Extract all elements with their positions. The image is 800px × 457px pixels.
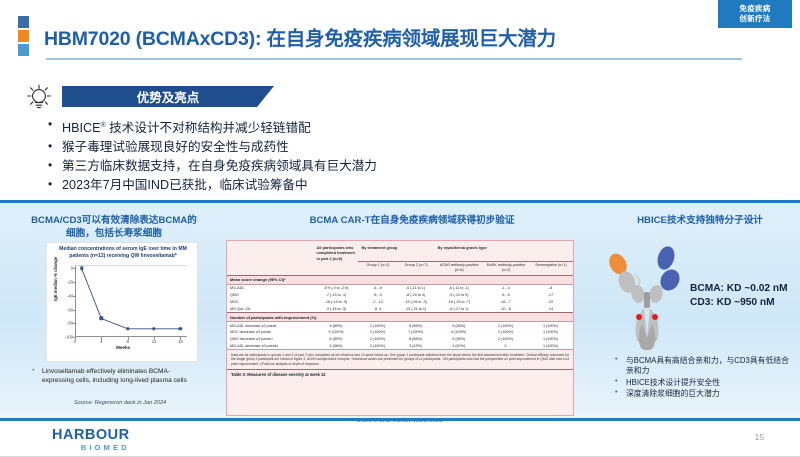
table-cell: -5, -3 [358, 292, 396, 299]
table-caption: Table 3: Measures of disease severity at… [227, 369, 573, 380]
chart-y-tick-label: -20 [67, 280, 73, 285]
table-cell: -17 [528, 292, 573, 299]
table-row-label: MG-QoL-15r [227, 305, 314, 312]
table-cell: -2, -13 [358, 298, 396, 305]
kd-cd3: CD3: KD ~950 nM [690, 296, 796, 310]
disease-severity-table-card: All participants who completed treatment… [226, 240, 574, 416]
table-section-row: Number of participants with improvement … [227, 313, 573, 322]
left-panel-bullet: Linvoseltamab effectively eliminates BCM… [32, 368, 200, 386]
table-row: MG-ADL decrease ≥5 points‡5 (56%)2 (100%… [227, 343, 573, 350]
table-row: MGC decrease ≥3 points9 (100%)2 (100%)7 … [227, 329, 573, 336]
antibody-hinge [644, 292, 650, 308]
chart-x-tick-label: 4 [100, 339, 102, 344]
table-cell: 1 (100%) [528, 329, 573, 336]
table-section-row: Mean score change (95% CI)* [227, 275, 573, 284]
table-cell: 2 (100%) [483, 329, 528, 336]
igE-chart-card: Median concentrations of serum IgE over … [46, 242, 198, 362]
table-cell: -13 (-21 to 1) [397, 305, 435, 312]
chart-title: Median concentrations of serum IgE over … [51, 246, 195, 260]
table-row-label: QMG decrease ≥3 points† [227, 336, 314, 343]
chart-y-tick-label: 0 [71, 266, 73, 271]
col-group-all-participants: All participants who completed treatment… [314, 241, 359, 261]
table-cell: -16 (-23 to -7) [435, 298, 483, 305]
table-cell: 9 (100%) [314, 329, 359, 336]
accent-square-orange [18, 30, 29, 42]
table-cell: -5 (-10 to 0) [435, 292, 483, 299]
table-cell: 3 (43%) [397, 343, 435, 350]
chart-x-tick-label: 16 [178, 339, 183, 344]
harbour-biomed-logo: HARBOUR BIOMED [52, 428, 130, 452]
table-cell: 5 (83%) [435, 336, 483, 343]
title-divider [46, 58, 742, 60]
table-row: QMG decrease ≥3 points†8 (89%)2 (100%)6 … [227, 336, 573, 343]
chart-plot-area: 0-20-40-60-80-1000481216 [75, 265, 187, 337]
subhead-seronegative: Seronegative (n=1) [528, 261, 573, 275]
table-cell: -1, -4 [483, 284, 528, 291]
highlight-text-cont: 技术设计不对称结构并减少轻链错配 [106, 121, 311, 135]
mutation-dot-left [636, 314, 642, 320]
highlights-ribbon-label: 优势及亮点 [137, 87, 200, 106]
logo-secondary: BIOMED [52, 443, 130, 452]
chart-x-axis-label: Weeks [47, 345, 199, 350]
footer-divider [0, 418, 800, 421]
right-bullet-1: 与BCMA具有高结合亲和力，与CD3具有低结合亲和力 [612, 356, 792, 377]
chart-x-tick-label: 8 [127, 339, 129, 344]
table-row-label: QMG [227, 292, 314, 299]
table-row: MG-QoL-15r-9 (-15 to -3)-8, 4-13 (-21 to… [227, 305, 573, 312]
table-cell: -10, -6 [483, 305, 528, 312]
page-title: HBM7020 (BCMAxCD3): 在自身免疫疾病领域展现巨大潜力 [44, 22, 556, 51]
table-cell: -8 (-20 to 4) [397, 292, 435, 299]
table-cell: 8 (89%) [314, 322, 359, 329]
highlights-ribbon: 优势及亮点 [62, 86, 274, 107]
highlight-text: 2023年7月中国IND已获批，临床试验筹备中 [62, 178, 308, 192]
left-panel-source: Source: Regeneron deck in Jan 2024 [40, 400, 200, 406]
table-cell: 8 (89%) [314, 336, 359, 343]
table-cell: -5·9 (-9 to -2·8) [314, 284, 359, 291]
highlight-item-4: 2023年7月中国IND已获批，临床试验筹备中 [44, 176, 770, 195]
subhead-group1: Group 1 (n=2) [358, 261, 396, 275]
table-cell: 5 (56%) [314, 343, 359, 350]
disease-severity-table: All participants who completed treatment… [227, 241, 573, 349]
table-cell: 0 [483, 343, 528, 350]
kd-values: BCMA: KD ~0.02 nM CD3: KD ~950 nM [690, 282, 796, 310]
kd-bcma: BCMA: KD ~0.02 nM [690, 282, 796, 296]
table-cell: -22 [528, 298, 573, 305]
table-cell: 2 (100%) [358, 343, 396, 350]
table-section-title: Mean score change (95% CI)* [227, 275, 573, 284]
left-heading-line: 细胞，包括长寿浆细胞 [66, 228, 162, 239]
accent-square-blue-light [18, 44, 29, 56]
right-panel-heading: HBICE技术支持独特分子设计 [606, 214, 794, 227]
table-row-label: MGC [227, 298, 314, 305]
table-subheader-row: Group 1 (n=2) Group 2 (n=7) AChR antibod… [227, 261, 573, 275]
table-row-label: MG-ADL decrease ≥5 points‡ [227, 343, 314, 350]
table-cell: 6 (86%) [397, 322, 435, 329]
highlight-item-2: 猴子毒理试验展现良好的安全性与成药性 [44, 138, 770, 157]
table-row: MG-ADL decrease ≥2 points8 (89%)2 (100%)… [227, 322, 573, 329]
table-cell: 5 (83%) [435, 322, 483, 329]
table-cell: -7 (-13 to -1) [314, 292, 359, 299]
table-section-title: Number of participants with improvement … [227, 313, 573, 322]
subhead-blank-1 [227, 261, 314, 275]
table-cell: -8 [528, 284, 573, 291]
table-cell: -14 [528, 305, 573, 312]
table-row: MG-ADL-5·9 (-9 to -2·8)-6, -8-6 (-11 to … [227, 284, 573, 291]
table-cell: 2 (100%) [483, 336, 528, 343]
table-row-label: MGC decrease ≥3 points [227, 329, 314, 336]
table-row: MGC-16 (-19 to -9)-2, -13-15 (-29 to -3)… [227, 298, 573, 305]
mutation-dot-right [652, 314, 658, 320]
chart-series-line [75, 265, 187, 337]
table-cell: -5, -5 [483, 292, 528, 299]
table-cell: -6 (-11 to -1) [435, 284, 483, 291]
middle-panel-heading: BCMA CAR-T在自身免疫疾病领域获得初步验证 [226, 214, 598, 227]
table-cell: -8, 4 [358, 305, 396, 312]
table-cell: -16, -7 [483, 298, 528, 305]
table-cell: 2 (100%) [358, 322, 396, 329]
chart-y-tick-label: -100 [65, 335, 73, 340]
table-cell: -15 (-29 to -3) [397, 298, 435, 305]
subhead-group2: Group 2 (n=7) [397, 261, 435, 275]
table-cell: 1 (100%) [528, 343, 573, 350]
accent-squares [18, 16, 29, 58]
table-cell: -8 (-17 to 1) [435, 305, 483, 312]
left-panel-heading: BCMA/CD3可以有效清除表达BCMA的细胞，包括长寿浆细胞 [16, 214, 212, 240]
antibody-ch1-right [648, 284, 664, 304]
badge-line-1: 免疫疾病 [739, 4, 770, 14]
table-cell: -6, -8 [358, 284, 396, 291]
col-group-by-mg-type: By myasthenia gravis type [435, 241, 573, 261]
highlight-text: 第三方临床数据支持，在自身免疫疾病领域具有巨大潜力 [62, 159, 377, 173]
subhead-musk: MuSK antibody-positive (n=2) [483, 261, 528, 275]
table-cell: -16 (-19 to -9) [314, 298, 359, 305]
chart-x-tick-label: 0 [74, 339, 76, 344]
table-cell: -6 (-11 to 1) [397, 284, 435, 291]
highlight-text: HBICE [62, 121, 101, 135]
table-cell: 2 (100%) [483, 322, 528, 329]
table-cell: -9 (-15 to -3) [314, 305, 359, 312]
table-corner-cell [227, 241, 314, 261]
right-bullet-2: HBICE技术设计提升安全性 [612, 378, 792, 388]
highlights-list: HBICE® 技术设计不对称结构并减少轻链错配 猴子毒理试验展现良好的安全性与成… [44, 116, 770, 195]
chart-y-tick-label: -40 [67, 293, 73, 298]
table-cell: 2 (100%) [358, 336, 396, 343]
highlight-item-3: 第三方临床数据支持，在自身免疫疾病领域具有巨大潜力 [44, 157, 770, 176]
highlight-item-1: HBICE® 技术设计不对称结构并减少轻链错配 [44, 116, 770, 138]
subhead-blank-2 [314, 261, 359, 275]
highlight-text: 猴子毒理试验展现良好的安全性与成药性 [62, 140, 289, 154]
table-group-header-row: All participants who completed treatment… [227, 241, 573, 261]
table-footnote: Data are for participants in groups 1 an… [227, 349, 573, 368]
slide-header: HBM7020 (BCMAxCD3): 在自身免疫疾病领域展现巨大潜力 [18, 14, 782, 72]
table-row: QMG-7 (-13 to -1)-5, -3-8 (-20 to 4)-5 (… [227, 292, 573, 299]
table-cell: 4 (67%) [435, 343, 483, 350]
table-cell: 6 (100%) [435, 329, 483, 336]
chart-x-tick-label: 12 [152, 339, 157, 344]
table-row-label: MG-ADL [227, 284, 314, 291]
table-body: Mean score change (95% CI)*MG-ADL-5·9 (-… [227, 275, 573, 349]
left-heading-line: BCMA/CD3可以有效清除表达BCMA的 [31, 215, 197, 226]
table-cell: 7 (100%) [397, 329, 435, 336]
band-top-divider [0, 200, 800, 203]
lightbulb-icon [22, 83, 56, 113]
table-cell: 1 (100%) [528, 336, 573, 343]
hbice-antibody-diagram [604, 238, 700, 354]
page-number: 15 [754, 432, 764, 442]
subhead-achr: AChR antibody-positive (n=6) [435, 261, 483, 275]
chart-y-tick-label: -80 [67, 321, 73, 326]
table-head: All participants who completed treatment… [227, 241, 573, 275]
col-group-by-treatment: By treatment group [358, 241, 434, 261]
right-panel-bullets: 与BCMA具有高结合亲和力，与CD3具有低结合亲和力 HBICE技术设计提升安全… [612, 356, 792, 401]
table-cell: 6 (86%) [397, 336, 435, 343]
right-bullet-3: 深度清除浆细胞的巨大潜力 [612, 389, 792, 399]
chart-y-axis-label: IgE median % change [53, 257, 58, 301]
table-cell: 1 (100%) [528, 322, 573, 329]
accent-square-blue-dark [18, 16, 29, 28]
logo-primary: HARBOUR [52, 428, 130, 443]
chart-y-tick-label: -60 [67, 307, 73, 312]
table-cell: 2 (100%) [358, 329, 396, 336]
table-row-label: MG-ADL decrease ≥2 points [227, 322, 314, 329]
